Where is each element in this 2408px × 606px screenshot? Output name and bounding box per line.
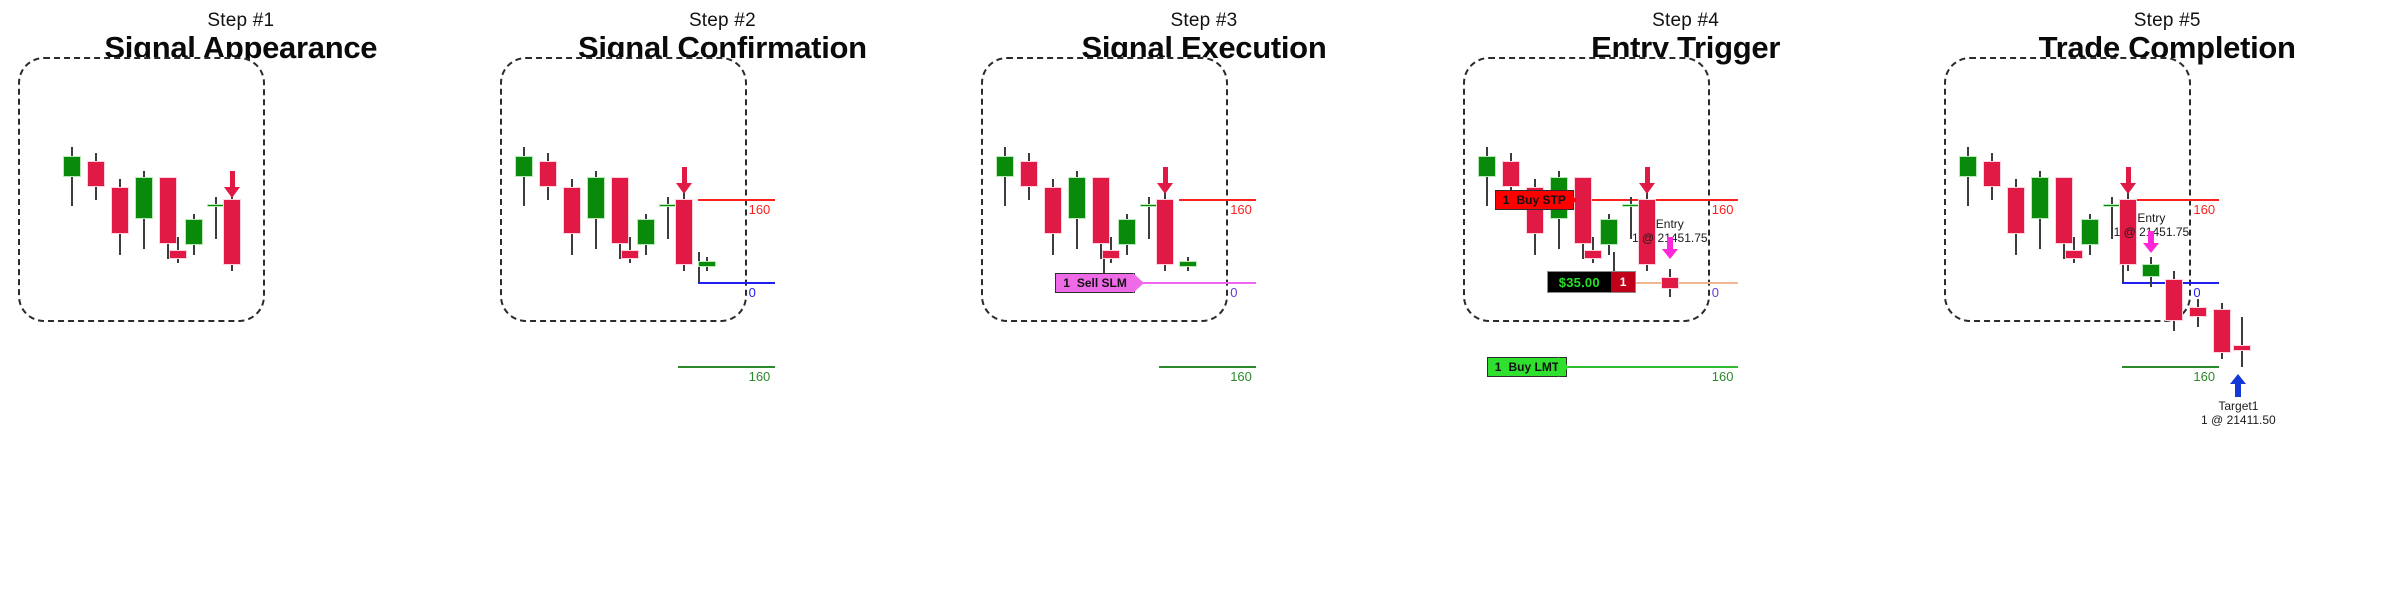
candle-body-down xyxy=(2213,309,2231,353)
candle-body-up xyxy=(587,177,605,219)
candle-body-down xyxy=(675,199,693,265)
candle-body-down xyxy=(1574,177,1592,244)
step-kicker: Step #4 xyxy=(1445,10,1927,32)
candle-body-up xyxy=(1179,261,1197,267)
tag-qty: 1 xyxy=(1503,190,1510,210)
candle-body-down xyxy=(1102,250,1120,259)
level-stop-line xyxy=(698,282,775,284)
candle-wick xyxy=(2241,317,2243,367)
candle-body-up xyxy=(2142,264,2160,277)
candle-body-down xyxy=(1661,277,1679,289)
step-kicker: Step #1 xyxy=(0,10,482,32)
candle-body-down xyxy=(1020,161,1038,187)
panel-step-2: Step #2Signal Confirmation1600160 xyxy=(482,0,964,606)
tag-label: Buy STP xyxy=(1516,190,1565,210)
candle-body-down xyxy=(2233,345,2251,351)
level-support-line xyxy=(1159,366,1256,368)
level-label-support-line: 160 xyxy=(1230,370,1252,383)
price-plot xyxy=(20,59,263,320)
panel-step-4: Step #4Entry Trigger16001601Buy STP1Buy … xyxy=(1445,0,1927,606)
fill-arrow-head-down xyxy=(2143,243,2159,253)
candle-body-up xyxy=(185,219,203,245)
candle-body-down xyxy=(2065,250,2083,259)
tag-buy-lmt-tag-pointer xyxy=(1558,357,1569,377)
price-plot: 16001601Sell SLM xyxy=(983,59,1226,320)
price-plot: 16001601Buy STP1Buy LMT$35.001Entry1 @ 2… xyxy=(1465,59,1708,320)
tag-sell-slm-tag[interactable]: 1Sell SLM xyxy=(1055,273,1135,293)
tag-buy-lmt-tag[interactable]: 1Buy LMT xyxy=(1487,357,1567,377)
candle-body-up xyxy=(2081,219,2099,245)
chart-frame: 16001601Sell SLM xyxy=(981,57,1228,322)
fill-arrow-head-up xyxy=(2230,374,2246,384)
tag-buy-stp-tag-pointer xyxy=(1566,190,1577,210)
candle-body-down xyxy=(1156,199,1174,265)
candle-body-up xyxy=(2031,177,2049,219)
pnl-qty-badge: 1 xyxy=(1611,272,1636,292)
level-support-line xyxy=(2122,366,2219,368)
level-label-support-line: 160 xyxy=(749,370,771,383)
level-stop-line-riser xyxy=(698,252,700,282)
tag-sell-slm-tag-pointer xyxy=(1133,273,1144,293)
annotation-line-2: 1 @ 21411.50 xyxy=(2192,413,2284,427)
level-label-entry-line: 0 xyxy=(1712,286,1719,299)
candle-body-down xyxy=(111,187,129,234)
candle-body-down xyxy=(2007,187,2025,234)
level-label-stop-line: 0 xyxy=(749,286,756,299)
candle-body-down xyxy=(621,250,639,259)
candle-body-down xyxy=(1044,187,1062,234)
candle-body-up xyxy=(637,219,655,245)
level-support-line xyxy=(678,366,775,368)
level-label-resistance-line: 160 xyxy=(749,203,771,216)
candle-body-down xyxy=(1584,250,1602,259)
annotation-line-1: Entry xyxy=(2105,211,2197,225)
signal-arrow-head xyxy=(1639,183,1655,194)
candle-body-down xyxy=(563,187,581,234)
chart-frame: 1600160Entry1 @ 21451.75Target11 @ 21411… xyxy=(1944,57,2191,322)
strategy-storyboard: Step #1Signal AppearanceStep #2Signal Co… xyxy=(0,0,2408,606)
tag-qty: 1 xyxy=(1495,357,1502,377)
level-label-resistance-line: 160 xyxy=(1230,203,1252,216)
signal-arrow-head xyxy=(1157,183,1173,194)
tag-qty: 1 xyxy=(1063,273,1070,293)
pnl-box: $35.001 xyxy=(1547,271,1637,293)
chart-frame: 1600160 xyxy=(500,57,747,322)
tag-buy-stp-tag[interactable]: 1Buy STP xyxy=(1495,190,1574,210)
tag-label: Buy LMT xyxy=(1508,357,1559,377)
candle-body-up xyxy=(996,156,1014,177)
candle-body-down xyxy=(2055,177,2073,244)
annotation-target1-annotation: Target11 @ 21411.50 xyxy=(2192,399,2284,427)
candle-body-up xyxy=(1478,156,1496,177)
candle-body-up xyxy=(1068,177,1086,219)
candle-body-down xyxy=(87,161,105,187)
level-label-support-line: 160 xyxy=(2193,370,2215,383)
signal-arrow-head xyxy=(224,187,240,198)
candle-body-up xyxy=(63,156,81,177)
candle-body-up xyxy=(1600,219,1618,245)
pnl-amount: $35.00 xyxy=(1548,275,1611,290)
price-plot: 1600160 xyxy=(502,59,745,320)
level-resistance-line xyxy=(1179,199,1256,201)
annotation-line-1: Target1 xyxy=(2192,399,2284,413)
candle-body-up xyxy=(515,156,533,177)
level-label-resistance-line: 160 xyxy=(1712,203,1734,216)
candle-body-up xyxy=(135,177,153,219)
step-kicker: Step #5 xyxy=(1926,10,2408,32)
candle-body-down xyxy=(1092,177,1110,244)
candle-body-down xyxy=(2189,307,2207,317)
candle-body-down xyxy=(539,161,557,187)
signal-arrow-head xyxy=(676,183,692,194)
candle-body-down xyxy=(1502,161,1520,187)
candle-body-down xyxy=(223,199,241,265)
candle-body-down xyxy=(2165,279,2183,321)
panel-step-3: Step #3Signal Execution16001601Sell SLM xyxy=(963,0,1445,606)
fill-arrow-shaft-up xyxy=(2235,384,2241,397)
candle-body-down xyxy=(159,177,177,244)
panel-step-5: Step #5Trade Completion1600160Entry1 @ 2… xyxy=(1926,0,2408,606)
chart-frame: 16001601Buy STP1Buy LMT$35.001Entry1 @ 2… xyxy=(1463,57,1710,322)
tag-label: Sell SLM xyxy=(1077,273,1127,293)
candle-body-up xyxy=(1118,219,1136,245)
step-kicker: Step #3 xyxy=(963,10,1445,32)
level-resistance-line xyxy=(698,199,775,201)
candle-body-up xyxy=(698,261,716,267)
candle-body-down xyxy=(169,250,187,259)
panel-step-1: Step #1Signal Appearance xyxy=(0,0,482,606)
level-label-sell-stop-line: 0 xyxy=(1230,286,1237,299)
level-label-support-line: 160 xyxy=(1712,370,1734,383)
price-plot: 1600160Entry1 @ 21451.75Target11 @ 21411… xyxy=(1946,59,2189,320)
fill-arrow-head-down xyxy=(1662,249,1678,259)
step-kicker: Step #2 xyxy=(482,10,964,32)
annotation-line-1: Entry xyxy=(1624,217,1716,231)
signal-arrow-head xyxy=(2120,183,2136,194)
candle-body-down xyxy=(611,177,629,244)
candle-body-down xyxy=(1983,161,2001,187)
level-label-stop-line: 0 xyxy=(2193,286,2200,299)
candle-body-up xyxy=(1959,156,1977,177)
chart-frame xyxy=(18,57,265,322)
